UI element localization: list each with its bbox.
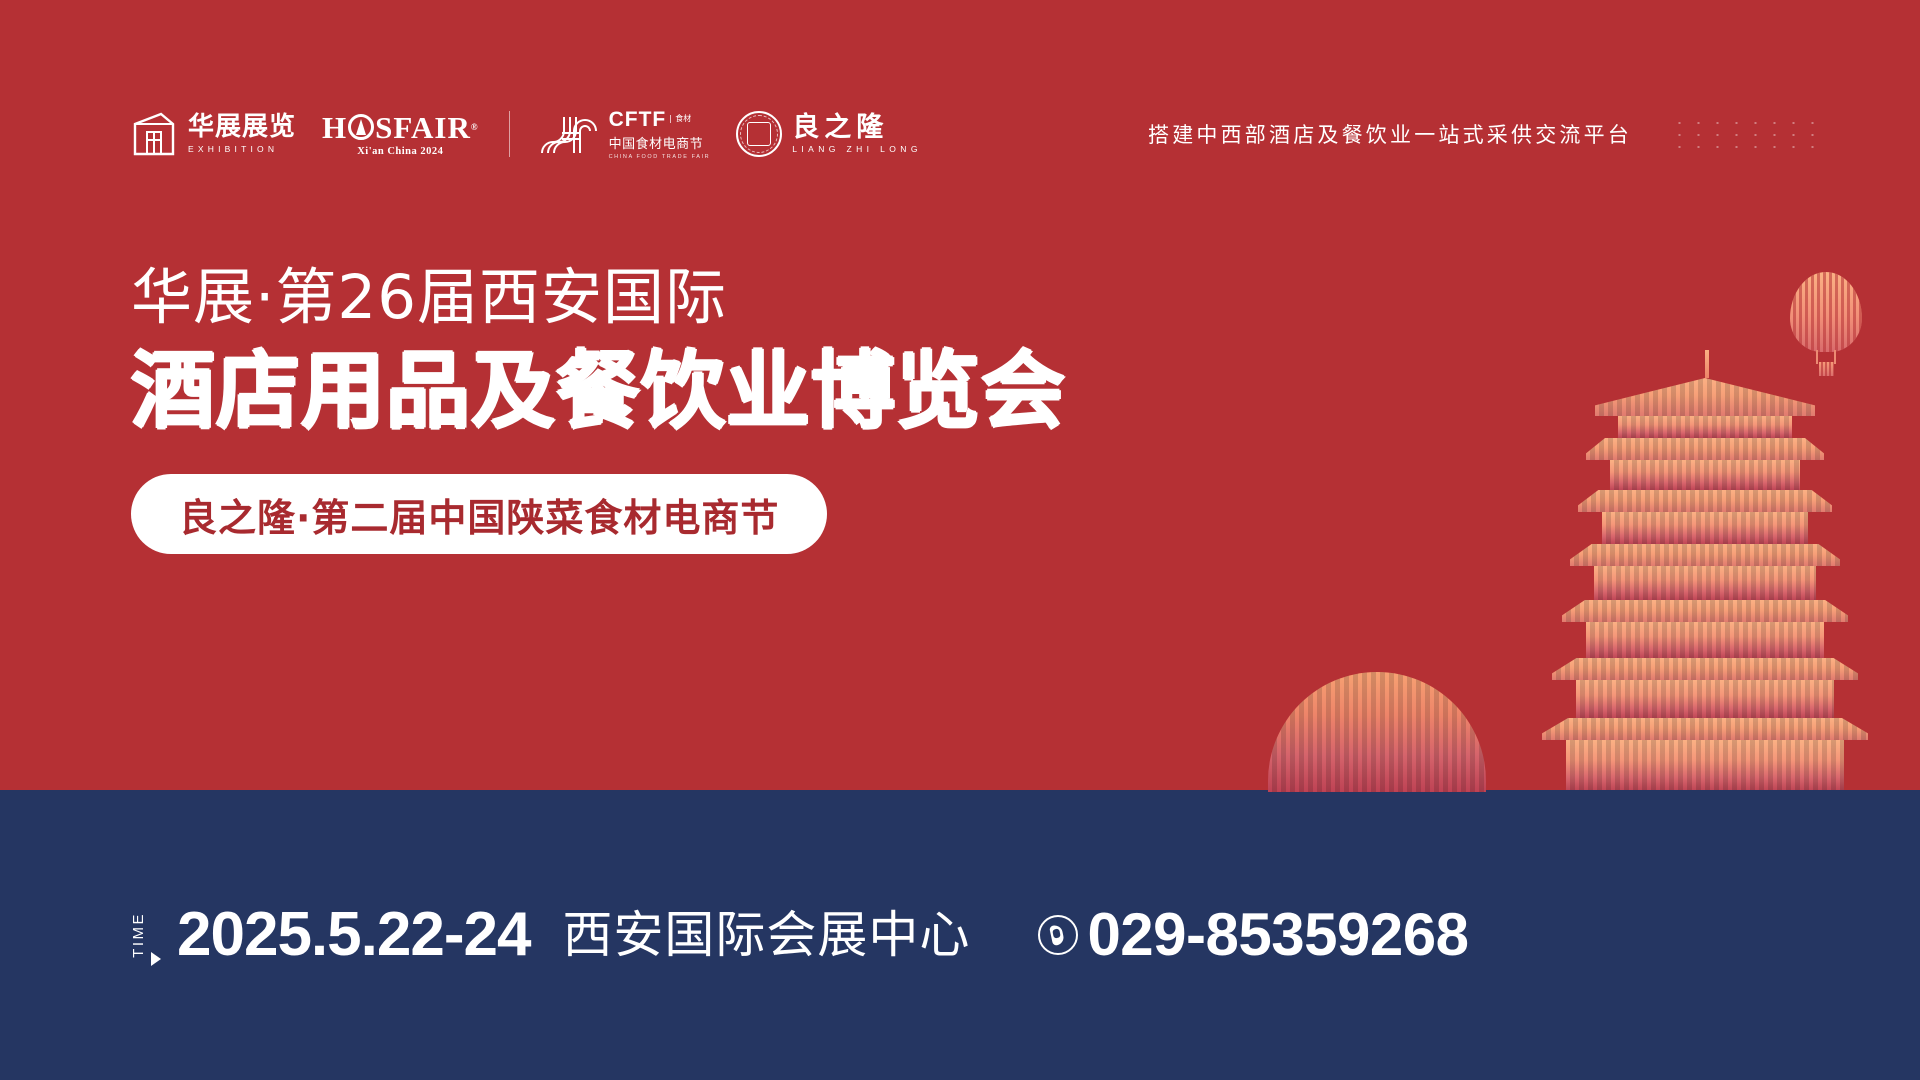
- pagoda-body-5: [1586, 622, 1824, 658]
- phone-number: 029-85359268: [1087, 905, 1468, 965]
- round-seal-icon: [736, 111, 782, 157]
- logo-cftf-en: CHINA FOOD TRADE FAIR: [609, 154, 711, 160]
- logo-liangzhilong-en: LIANG ZHI LONG: [792, 144, 922, 154]
- pagoda-body-7: [1566, 740, 1844, 790]
- cftf-ribbon-icon: [540, 113, 600, 155]
- event-date: 2025.5.22-24: [177, 904, 530, 966]
- pagoda-roof-3: [1578, 490, 1832, 512]
- header-divider: [509, 111, 510, 157]
- pagoda-in-circle-icon: [348, 114, 374, 140]
- page-title-line1: 华展·第26届西安国际: [131, 262, 1066, 334]
- title-block: 华展·第26届西安国际 酒店用品及餐饮业博览会 良之隆·第二届中国陕菜食材电商节: [131, 262, 1066, 554]
- registered-mark: ®: [471, 123, 479, 132]
- logo-cftf-badge: 食材: [670, 115, 691, 124]
- building-frame-icon: [131, 112, 177, 156]
- logo-huazhan[interactable]: 华展展览 EXHIBITION: [131, 112, 296, 156]
- pagoda-roof-1: [1595, 378, 1815, 416]
- logo-hosfair-sub: Xi'an China 2024: [357, 146, 443, 157]
- logo-huazhan-en: EXHIBITION: [188, 144, 296, 154]
- logo-hosfair-rest: SFAIR: [375, 112, 471, 143]
- logo-liangzhilong-cn: 良之隆: [792, 114, 922, 142]
- header-tagline: 搭建中西部酒店及餐饮业一站式采供交流平台: [1148, 119, 1632, 149]
- pagoda-roof-6: [1552, 658, 1858, 680]
- subtitle-pill: 良之隆·第二届中国陕菜食材电商节: [131, 474, 827, 554]
- sun-decoration: [1268, 672, 1486, 792]
- dot-grid-decoration: [1670, 117, 1820, 151]
- phone-block[interactable]: 029-85359268: [1038, 905, 1468, 965]
- banner-canvas: 华展展览 EXHIBITION HSFAIR® Xi'an China 2024: [0, 0, 1920, 1080]
- hot-air-balloon-decoration: [1790, 272, 1862, 380]
- logo-huazhan-cn: 华展展览: [188, 114, 296, 141]
- logo-hosfair-wordmark: HSFAIR®: [322, 112, 479, 143]
- logo-cftf-cn: 中国食材电商节: [609, 133, 711, 152]
- pagoda-body-6: [1576, 680, 1834, 718]
- logo-hosfair-h: H: [322, 112, 347, 143]
- banner-footer: TIME 2025.5.22-24 西安国际会展中心 029-85359268: [0, 790, 1920, 1080]
- pagoda-body-1: [1618, 416, 1792, 438]
- balloon-envelope: [1790, 272, 1862, 352]
- banner-header: 华展展览 EXHIBITION HSFAIR® Xi'an China 2024: [0, 104, 1920, 164]
- logo-row: 华展展览 EXHIBITION HSFAIR® Xi'an China 2024: [131, 104, 922, 164]
- triangle-right-icon: [151, 952, 161, 966]
- pagoda-body-3: [1602, 512, 1808, 544]
- logo-liangzhilong[interactable]: 良之隆 LIANG ZHI LONG: [736, 111, 922, 157]
- pagoda-roof-7: [1542, 718, 1868, 740]
- pagoda-spire: [1705, 350, 1709, 378]
- logo-hosfair[interactable]: HSFAIR® Xi'an China 2024: [322, 112, 479, 157]
- page-title-line2: 酒店用品及餐饮业博览会: [131, 340, 1066, 442]
- pagoda-decoration: [1540, 350, 1870, 790]
- balloon-basket: [1819, 362, 1834, 376]
- phone-circle-icon: [1038, 915, 1078, 955]
- logo-cftf-abbr: CFTF: [609, 109, 667, 130]
- pagoda-body-2: [1610, 460, 1800, 490]
- pagoda-body-4: [1594, 566, 1816, 600]
- time-label: TIME: [131, 912, 146, 958]
- sun-stripes: [1268, 672, 1486, 792]
- subtitle-pill-label: 良之隆·第二届中国陕菜食材电商节: [179, 487, 779, 542]
- event-venue: 西安国际会展中心: [562, 910, 970, 960]
- pagoda-roof-5: [1562, 600, 1848, 622]
- pagoda-roof-2: [1586, 438, 1824, 460]
- logo-cftf[interactable]: CFTF 食材 中国食材电商节 CHINA FOOD TRADE FAIR: [540, 109, 711, 160]
- pagoda-roof-4: [1570, 544, 1840, 566]
